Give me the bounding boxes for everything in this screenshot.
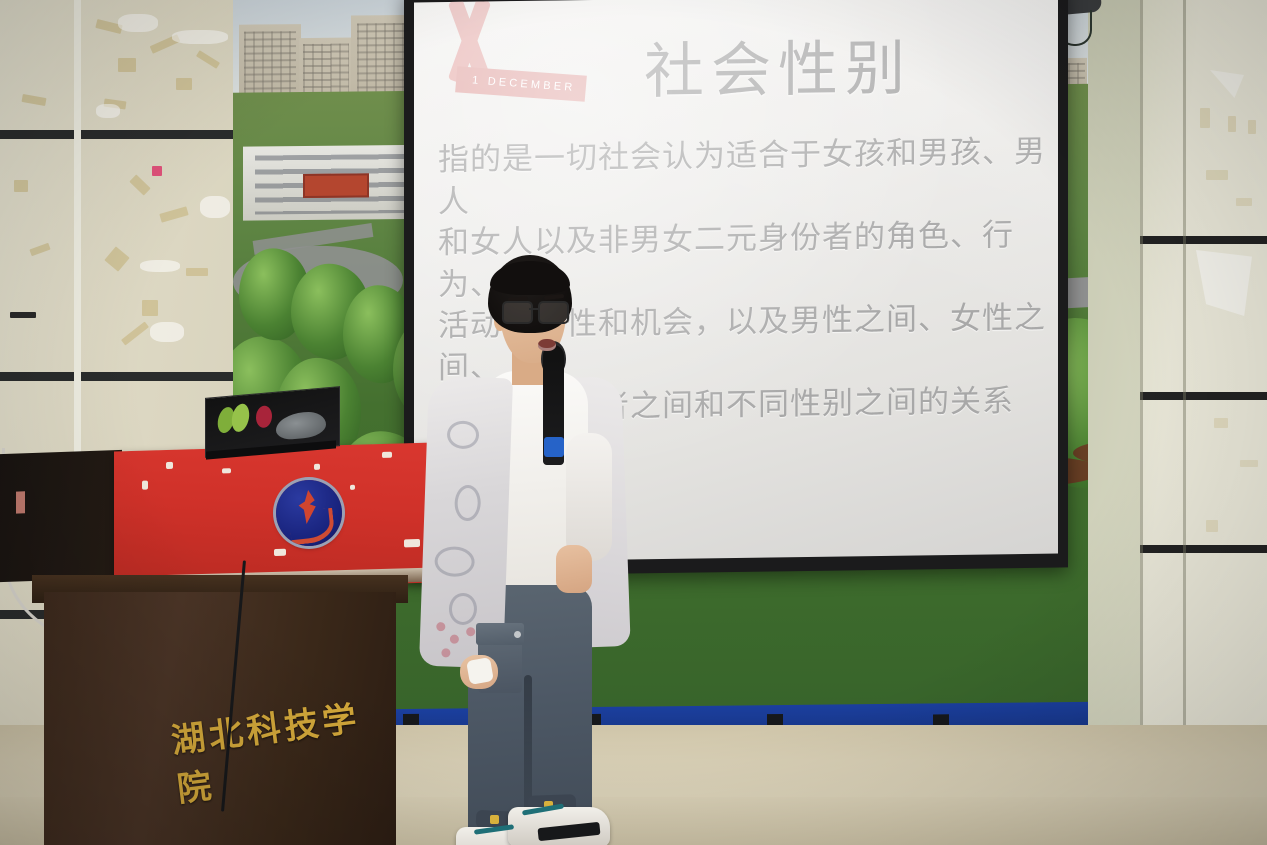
university-crest-icon <box>276 480 342 546</box>
lecture-hall-photo: 1 DECEMBER 社会性别 指的是一切社会认为适合于女孩和男孩、男人 和女人… <box>0 0 1267 845</box>
cargo-pocket-button <box>514 631 521 638</box>
glasses-icon <box>502 301 570 321</box>
slide-body-line: 指的是一切社会认为适合于女孩和男孩、男人 <box>438 132 1048 224</box>
right-hand <box>556 545 592 593</box>
wall-column <box>1088 0 1140 845</box>
cuff-tab <box>490 815 499 824</box>
right-arm <box>566 433 612 561</box>
microphone-band <box>544 437 564 457</box>
ribbon-date-label: 1 DECEMBER <box>456 73 576 94</box>
presenter <box>416 255 616 845</box>
slide-title: 社会性别 <box>644 20 912 111</box>
mouth <box>538 339 556 351</box>
held-paper <box>466 657 494 685</box>
podium-side-panel <box>0 450 122 582</box>
